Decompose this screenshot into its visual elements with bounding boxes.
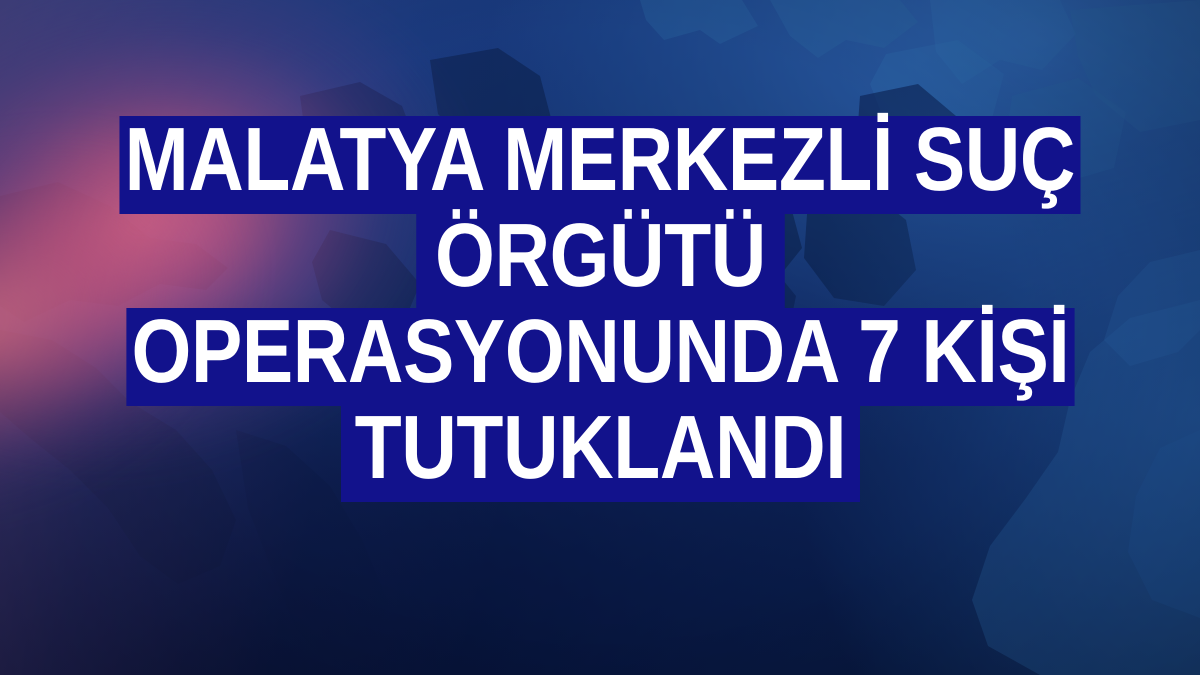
headline-block: MALATYA MERKEZLİ SUÇ ÖRGÜTÜ OPERASYONUND… (0, 116, 1200, 502)
headline-line-4: TUTUKLANDI (0, 404, 1200, 502)
headline-line-1: MALATYA MERKEZLİ SUÇ (0, 116, 1200, 214)
headline-line-2-text: ÖRGÜTÜ (416, 212, 784, 310)
headline-line-2: ÖRGÜTÜ (0, 212, 1200, 310)
news-headline-card: MALATYA MERKEZLİ SUÇ ÖRGÜTÜ OPERASYONUND… (0, 0, 1200, 675)
headline-line-4-text: TUTUKLANDI (341, 404, 860, 502)
headline-line-3: OPERASYONUNDA 7 KİŞİ (0, 308, 1200, 406)
headline-line-1-text: MALATYA MERKEZLİ SUÇ (120, 116, 1081, 214)
headline-line-3-text: OPERASYONUNDA 7 KİŞİ (126, 308, 1074, 406)
